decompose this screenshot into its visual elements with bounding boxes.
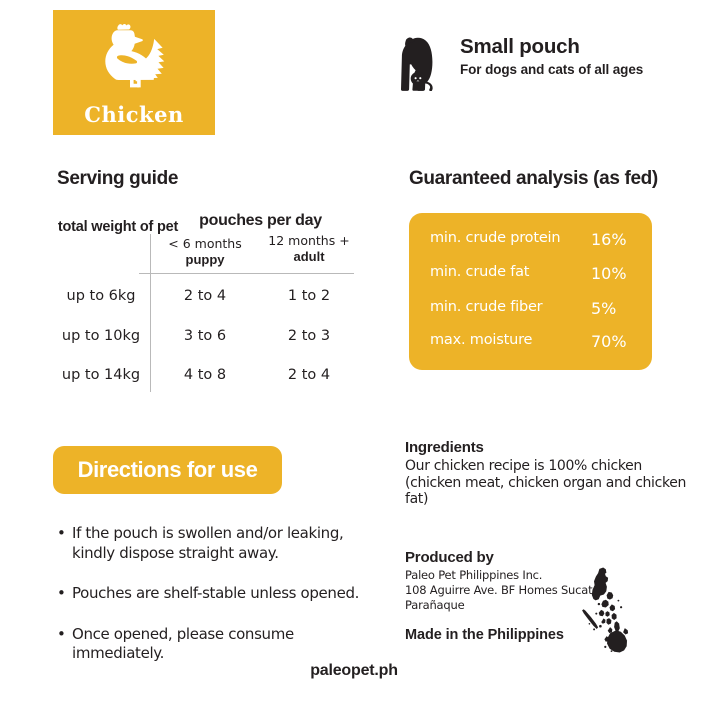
table-column-header-puppy: < 6 months puppy xyxy=(157,236,253,268)
serving-guide-heading: Serving guide xyxy=(57,168,178,190)
table-row: up to 10kg xyxy=(51,328,151,344)
list-item-text: Pouches are shelf-stable unless opened. xyxy=(72,584,359,602)
analysis-value: 16% xyxy=(591,230,627,249)
table-cell: 2 to 4 xyxy=(157,288,253,304)
ingredients-title: Ingredients xyxy=(405,439,690,456)
table-cell: 2 to 4 xyxy=(261,367,357,383)
table-horizontal-divider xyxy=(139,273,354,274)
analysis-label: min. crude protein xyxy=(430,230,560,246)
list-item: • If the pouch is swollen and/or leaking… xyxy=(57,524,387,563)
footer-website-url: paleopet.ph xyxy=(0,662,708,680)
address-line-1: 108 Aguirre Ave. BF Homes Sucat xyxy=(405,583,695,598)
directions-for-use-banner: Directions for use xyxy=(53,446,282,494)
list-item-text: Once opened, please consume immediately. xyxy=(72,625,294,663)
made-in-philippines-label: Made in the Philippines xyxy=(405,627,695,643)
serving-guide-table: total weight of pet pouches per day < 6 … xyxy=(53,208,353,393)
bullet-dot-icon: • xyxy=(57,524,66,544)
table-cell: 1 to 2 xyxy=(261,288,357,304)
dog-and-cat-icon xyxy=(398,35,450,91)
table-cell: 2 to 3 xyxy=(261,328,357,344)
analysis-label: min. crude fat xyxy=(430,264,529,280)
table-column-header-adult: 12 months + adult xyxy=(261,233,357,265)
produced-by-title: Produced by xyxy=(405,549,695,566)
list-item-text: If the pouch is swollen and/or leaking, … xyxy=(72,524,343,562)
guaranteed-analysis-heading: Guaranteed analysis (as fed) xyxy=(409,168,658,190)
table-cell: 3 to 6 xyxy=(157,328,253,344)
pouch-title: Small pouch xyxy=(460,35,580,59)
chicken-icon xyxy=(53,22,215,90)
column-header-puppy-age: < 6 months xyxy=(157,236,253,252)
analysis-value: 70% xyxy=(591,332,627,351)
table-cell: 4 to 8 xyxy=(157,367,253,383)
analysis-row: min. crude fiber 5% xyxy=(409,299,652,325)
produced-by-address: Paleo Pet Philippines Inc. 108 Aguirre A… xyxy=(405,568,695,613)
philippines-map-icon xyxy=(578,566,636,654)
column-header-adult-stage: adult xyxy=(261,249,357,265)
analysis-value: 10% xyxy=(591,264,627,283)
table-row: up to 14kg xyxy=(51,367,151,383)
chicken-badge-label: Chicken xyxy=(53,102,215,127)
address-line-2: Parañaque xyxy=(405,598,695,613)
table-row: up to 6kg xyxy=(51,288,151,304)
analysis-label: min. crude fiber xyxy=(430,299,542,315)
company-name: Paleo Pet Philippines Inc. xyxy=(405,568,695,583)
list-item: • Pouches are shelf-stable unless opened… xyxy=(57,584,387,604)
bullet-dot-icon: • xyxy=(57,625,66,645)
pouch-subtitle: For dogs and cats of all ages xyxy=(460,62,643,77)
ingredients-block: Ingredients Our chicken recipe is 100% c… xyxy=(405,439,690,508)
column-header-puppy-stage: puppy xyxy=(157,252,253,268)
analysis-value: 5% xyxy=(591,299,616,318)
analysis-label: max. moisture xyxy=(430,332,532,348)
bullet-dot-icon: • xyxy=(57,584,66,604)
analysis-row: min. crude protein 16% xyxy=(409,230,652,256)
pouch-header: Small pouch For dogs and cats of all age… xyxy=(398,33,698,95)
chicken-flavour-badge: Chicken xyxy=(53,10,215,135)
produced-by-block: Produced by Paleo Pet Philippines Inc. 1… xyxy=(405,549,695,643)
table-column-group-label: pouches per day xyxy=(163,212,358,230)
analysis-row: min. crude fat 10% xyxy=(409,264,652,290)
column-header-adult-age: 12 months + xyxy=(261,233,357,249)
analysis-row: max. moisture 70% xyxy=(409,332,652,358)
ingredients-text: Our chicken recipe is 100% chicken (chic… xyxy=(405,458,690,508)
guaranteed-analysis-panel: min. crude protein 16% min. crude fat 10… xyxy=(409,213,652,370)
list-item: • Once opened, please consume immediatel… xyxy=(57,625,387,664)
directions-for-use-label: Directions for use xyxy=(78,457,258,483)
directions-bullet-list: • If the pouch is swollen and/or leaking… xyxy=(57,524,387,664)
